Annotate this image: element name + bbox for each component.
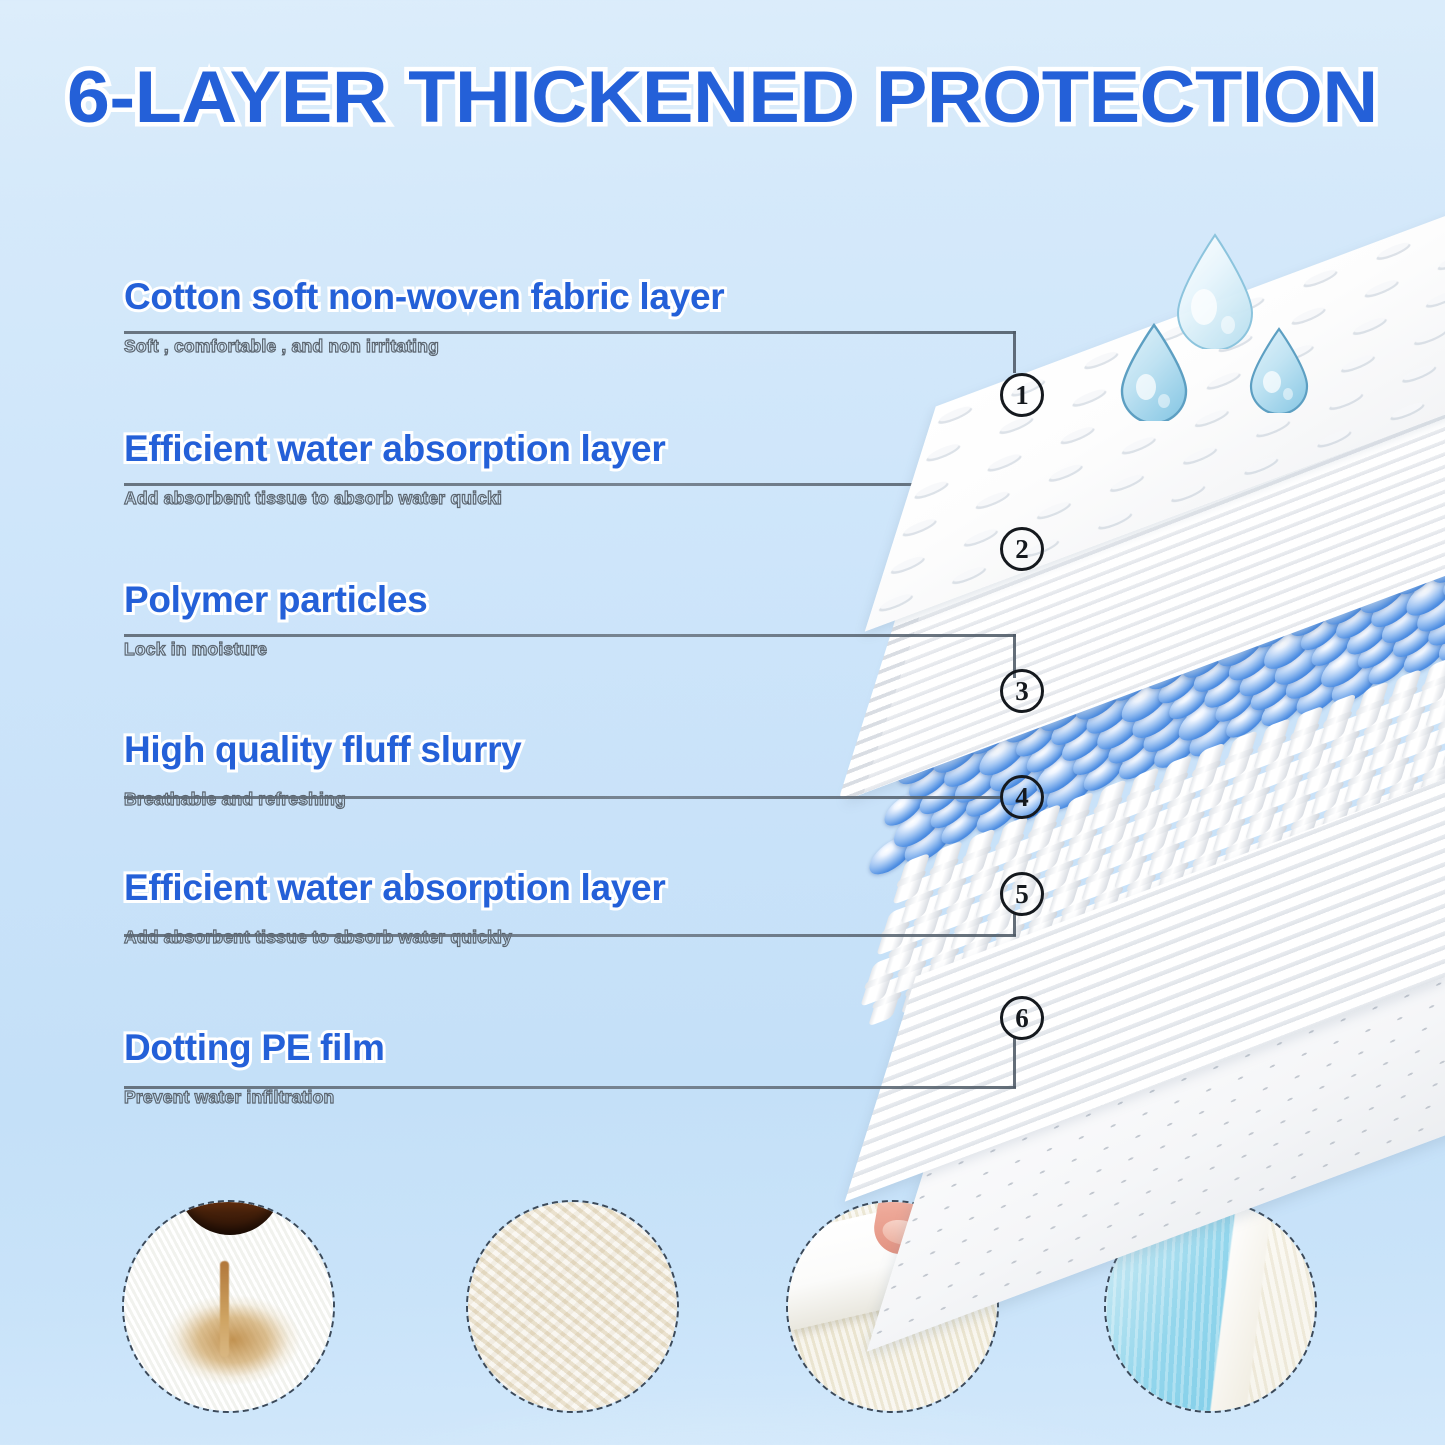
layer-title-1: Cotton soft non-woven fabric layer: [124, 278, 724, 316]
layer-marker-1: 1: [1000, 373, 1044, 417]
layer-block-6: Dotting PE film Prevent water infiltrati…: [124, 1029, 385, 1108]
layer-block-2: Efficient water absorption layer Add abs…: [124, 430, 665, 509]
layer-subtitle-6: Prevent water infiltration: [124, 1087, 385, 1108]
connector-line-5: [124, 934, 1016, 937]
layer-marker-6: 6: [1000, 996, 1044, 1040]
fluff-pulp-closeup-photo-icon: [468, 1202, 677, 1411]
connector-line-4: [124, 796, 1000, 799]
exploded-layer-illustration: [860, 215, 1445, 1180]
product-photo-row: [0, 1178, 1445, 1445]
layer-marker-3: 3: [1000, 669, 1044, 713]
layer-title-3: Polymer particles: [124, 581, 427, 619]
connector-rise-5: [1013, 914, 1016, 936]
connector-line-1: [124, 331, 1016, 334]
photo-liquid-absorption: [122, 1200, 335, 1413]
water-droplet-small-icon: [1248, 327, 1310, 418]
layer-block-3: Polymer particles Lock in moisture: [124, 581, 427, 660]
water-droplet-mid-icon: [1118, 323, 1190, 426]
layer-subtitle-5: Add absorbent tissue to absorb water qui…: [124, 927, 665, 948]
layer-marker-4: 4: [1000, 775, 1044, 819]
layer-block-1: Cotton soft non-woven fabric layer Soft …: [124, 278, 724, 357]
layer-subtitle-4: Breathable and refreshing: [124, 789, 521, 810]
layer-marker-5: 5: [1000, 872, 1044, 916]
connector-line-6: [124, 1086, 1016, 1089]
layer-title-6: Dotting PE film: [124, 1029, 385, 1067]
layer-title-2: Efficient water absorption layer: [124, 430, 665, 468]
page-title: 6-LAYER THICKENED PROTECTION: [67, 56, 1378, 139]
liquid-stream-icon: [220, 1261, 229, 1357]
layer-subtitle-1: Soft , comfortable , and non irritating: [124, 336, 724, 357]
page-title-container: 6-LAYER THICKENED PROTECTION: [0, 56, 1445, 139]
connector-rise-6: [1013, 1038, 1016, 1088]
layer-title-5: Efficient water absorption layer: [124, 869, 665, 907]
connector-drop-1: [1013, 331, 1016, 373]
fluff-fiber-texture: [468, 1202, 677, 1411]
layer-title-4: High quality fluff slurry: [124, 731, 521, 769]
layer-subtitle-3: Lock in moisture: [124, 639, 427, 660]
connector-line-2: [124, 483, 1016, 486]
liquid-pour-test-photo-icon: [124, 1202, 333, 1411]
layer-subtitle-2: Add absorbent tissue to absorb water qui…: [124, 488, 665, 509]
layer-marker-2: 2: [1000, 527, 1044, 571]
photo-fluff-texture: [466, 1200, 679, 1413]
connector-line-3: [124, 634, 1016, 637]
